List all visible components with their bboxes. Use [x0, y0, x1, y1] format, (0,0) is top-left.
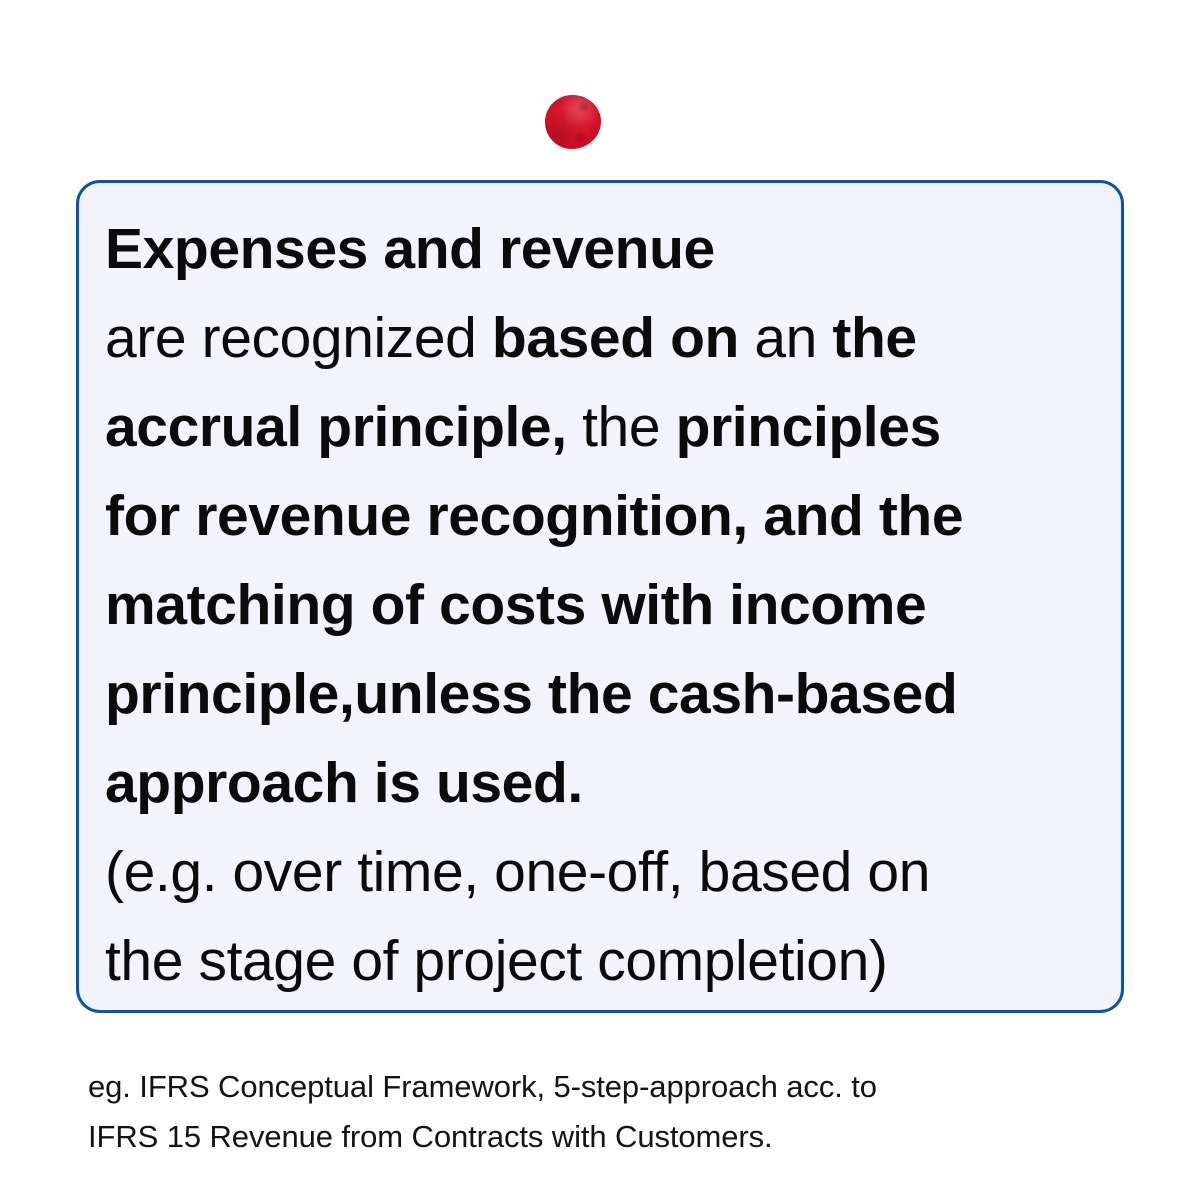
statement-line-3: accrual principle, the principles	[105, 395, 941, 459]
dot-texture-speck	[575, 133, 586, 142]
bold-run: accrual principle,	[105, 395, 567, 459]
bold-run: the	[832, 306, 916, 370]
regular-run: the	[567, 395, 676, 459]
regular-run: an	[739, 306, 832, 370]
statement-line-5: matching of costs with income	[105, 573, 926, 637]
bold-run: for revenue recognition, and the	[105, 484, 963, 548]
bold-run: principle,unless the cash-based	[105, 662, 957, 726]
statement-body: Expenses and revenue are recognized base…	[105, 205, 1095, 1006]
regular-run: (e.g. over time, one-off, based on	[105, 840, 930, 904]
regular-run: the stage of project completion)	[105, 929, 887, 993]
red-dot-marker	[545, 95, 601, 149]
statement-line-1: Expenses and revenue	[105, 217, 715, 281]
statement-line-9: the stage of project completion)	[105, 929, 887, 993]
statement-line-7: approach is used.	[105, 751, 583, 815]
caption-line-2: IFRS 15 Revenue from Contracts with Cust…	[88, 1119, 773, 1154]
statement-line-6: principle,unless the cash-based	[105, 662, 957, 726]
statement-line-2: are recognized based on an the	[105, 306, 917, 370]
bold-run: approach is used.	[105, 751, 583, 815]
source-caption: eg. IFRS Conceptual Framework, 5-step-ap…	[88, 1062, 1098, 1162]
bold-run: principles	[676, 395, 941, 459]
statement-card: Expenses and revenue are recognized base…	[76, 180, 1124, 1013]
regular-run: are recognized	[105, 306, 492, 370]
bold-run: based on	[492, 306, 739, 370]
dot-texture-speck	[579, 103, 588, 111]
bold-run: matching of costs with income	[105, 573, 926, 637]
caption-line-1: eg. IFRS Conceptual Framework, 5-step-ap…	[88, 1069, 877, 1104]
bold-run: Expenses and revenue	[105, 217, 715, 281]
statement-line-4: for revenue recognition, and the	[105, 484, 963, 548]
statement-line-8: (e.g. over time, one-off, based on	[105, 840, 930, 904]
slide-canvas: Expenses and revenue are recognized base…	[0, 0, 1200, 1200]
red-dot-icon	[545, 95, 601, 149]
dot-texture-speck	[555, 115, 563, 129]
